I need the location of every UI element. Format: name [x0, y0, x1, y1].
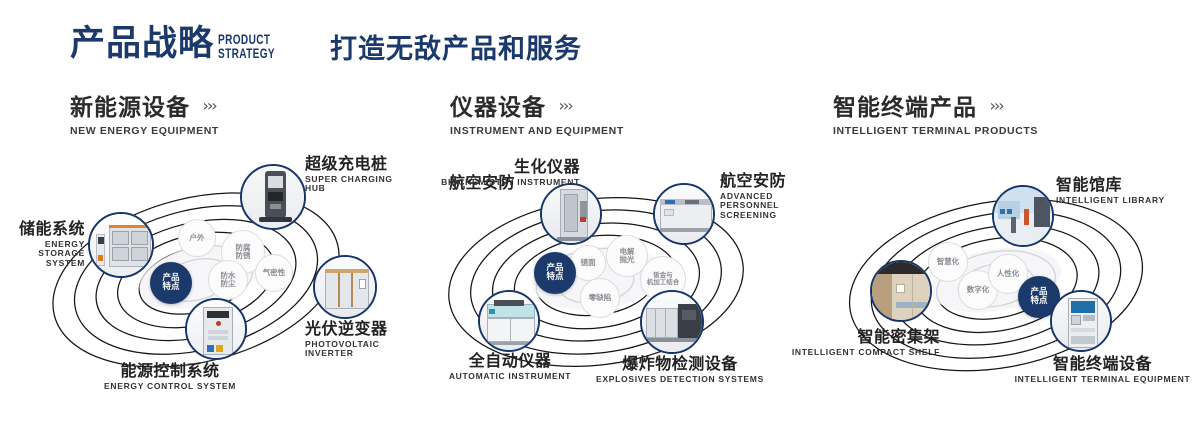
- node-label-biochemistry-instrument: 生化仪器 BIOCHEMISTRY INSTRUMENT: [440, 158, 580, 187]
- section-heading-cn: 智能终端产品: [833, 95, 977, 121]
- node-intelligent-terminal-equipment[interactable]: [1050, 290, 1112, 352]
- feature-line1: 气密性: [263, 268, 286, 277]
- page-title-cn: 产品战略: [70, 26, 214, 63]
- node-label-en: AUTOMATIC INSTRUMENT: [420, 372, 600, 382]
- node-photo: [994, 187, 1052, 245]
- node-intelligent-library[interactable]: [992, 185, 1054, 247]
- node-photo: [187, 300, 245, 358]
- node-explosives-detection-systems[interactable]: [640, 290, 704, 354]
- core-line2: 特点: [1030, 296, 1047, 306]
- node-photo: [642, 292, 702, 352]
- diagram-intelligent-terminal: 智慧化 数字化 人性化 产品 特点 智能馆库: [800, 150, 1200, 415]
- node-label-cn: 能源控制系统: [75, 362, 265, 380]
- feature-line2: 抛光: [620, 255, 635, 264]
- feature-bubble: 防水 防尘: [208, 260, 248, 300]
- node-label-en: BIOCHEMISTRY INSTRUMENT: [440, 178, 580, 188]
- feature-line2: 防锈: [236, 251, 251, 260]
- node-label-intelligent-terminal-equipment: 智能终端设备 INTELLIGENT TERMINAL EQUIPMENT: [1005, 355, 1200, 384]
- node-energy-control-system[interactable]: [185, 298, 247, 360]
- node-label-intelligent-library: 智能馆库 INTELLIGENT LIBRARY: [1056, 176, 1196, 205]
- node-label-cn: 智能馆库: [1056, 176, 1196, 194]
- page-title-en-line1: PRODUCT: [218, 32, 275, 46]
- feature-line1: 数字化: [967, 285, 990, 294]
- node-photo: [480, 292, 538, 350]
- node-super-charging-hub[interactable]: [240, 164, 306, 230]
- node-label-en: ENERGY STORAGE SYSTEM: [0, 240, 85, 269]
- chevron-right-icon: ›››: [989, 96, 1002, 115]
- core-bubble: 产品 特点: [150, 262, 192, 304]
- node-photo: [1052, 292, 1110, 350]
- core-bubble: 产品 特点: [534, 252, 576, 294]
- page-title-en-line2: STRATEGY: [218, 46, 275, 60]
- diagram-new-energy: 户外 防腐 防锈 防水 防尘 气密性 产品 特点: [0, 150, 400, 415]
- node-photovoltaic-inverter[interactable]: [313, 255, 377, 319]
- node-label-en: INTELLIGENT COMPACT SHELF: [780, 348, 940, 358]
- node-label-energy-storage-system: 储能系统 ENERGY STORAGE SYSTEM: [0, 220, 85, 268]
- node-label-en: INTELLIGENT TERMINAL EQUIPMENT: [1005, 375, 1200, 385]
- node-photo: [315, 257, 375, 317]
- node-label-en: EXPLOSIVES DETECTION SYSTEMS: [585, 375, 775, 385]
- feature-line1: 零缺陷: [589, 293, 612, 302]
- node-photo: [872, 262, 930, 320]
- feature-bubble: 气密性: [255, 254, 293, 292]
- page-slogan: 打造无敌产品和服务: [330, 35, 582, 65]
- node-label-cn: 爆炸物检测设备: [585, 355, 775, 373]
- node-label-en: INTELLIGENT LIBRARY: [1056, 196, 1196, 206]
- node-label-cn: 智能密集架: [780, 328, 940, 346]
- node-label-cn: 全自动仪器: [420, 352, 600, 370]
- node-intelligent-compact-shelf[interactable]: [870, 260, 932, 322]
- feature-line1: 镜面: [581, 258, 596, 267]
- feature-line2: 机加工结合: [647, 278, 680, 286]
- node-label-cn: 储能系统: [0, 220, 85, 238]
- node-energy-storage-system[interactable]: [88, 212, 154, 278]
- diagram-instrument: 镜面 电解 抛光 钣金与 机加工结合 零缺陷 产品 特点: [400, 150, 800, 415]
- section-heading-en: INTELLIGENT TERMINAL PRODUCTS: [833, 125, 1038, 137]
- feature-line1: 智慧化: [937, 257, 960, 266]
- section-heading-instrument: 仪器设备 ››› INSTRUMENT AND EQUIPMENT: [450, 95, 624, 137]
- node-photo: [90, 214, 152, 276]
- node-automatic-instrument[interactable]: [478, 290, 540, 352]
- section-heading-cn: 新能源设备: [70, 95, 190, 121]
- feature-bubble: 零缺陷: [580, 278, 620, 318]
- feature-line1: 户外: [190, 233, 205, 242]
- core-line2: 特点: [162, 282, 179, 292]
- core-line2: 特点: [546, 272, 563, 282]
- section-heading-new-energy: 新能源设备 ››› NEW ENERGY EQUIPMENT: [70, 95, 219, 137]
- section-heading-en: INSTRUMENT AND EQUIPMENT: [450, 125, 624, 137]
- node-label-explosives-detection-systems: 爆炸物检测设备 EXPLOSIVES DETECTION SYSTEMS: [585, 355, 775, 384]
- node-label-energy-control-system: 能源控制系统 ENERGY CONTROL SYSTEM: [75, 362, 265, 391]
- chevron-right-icon: ›››: [558, 96, 571, 115]
- node-label-intelligent-compact-shelf: 智能密集架 INTELLIGENT COMPACT SHELF: [780, 328, 940, 357]
- node-label-cn: 超级充电桩: [305, 155, 415, 173]
- section-heading-intelligent-terminal: 智能终端产品 ››› INTELLIGENT TERMINAL PRODUCTS: [833, 95, 1038, 137]
- node-advanced-personnel-screening[interactable]: [653, 183, 715, 245]
- feature-line1: 人性化: [997, 269, 1020, 278]
- section-heading-cn: 仪器设备: [450, 95, 546, 121]
- feature-bubble: 户外: [178, 219, 216, 257]
- page-title-en: PRODUCT STRATEGY: [218, 32, 275, 60]
- node-label-en: ENERGY CONTROL SYSTEM: [75, 382, 265, 392]
- feature-line2: 防尘: [221, 279, 236, 288]
- node-biochemistry-instrument[interactable]: [540, 183, 602, 245]
- node-label-cn: 生化仪器: [440, 158, 580, 176]
- node-photo: [655, 185, 713, 243]
- product-strategy-infographic: 产品战略 PRODUCT STRATEGY 打造无敌产品和服务 新能源设备 ››…: [0, 0, 1200, 422]
- chevron-right-icon: ›››: [202, 96, 215, 115]
- section-heading-en: NEW ENERGY EQUIPMENT: [70, 125, 219, 137]
- node-label-automatic-instrument: 全自动仪器 AUTOMATIC INSTRUMENT: [420, 352, 600, 381]
- node-label-cn: 智能终端设备: [1005, 355, 1200, 373]
- node-photo: [542, 185, 600, 243]
- node-photo: [242, 166, 304, 228]
